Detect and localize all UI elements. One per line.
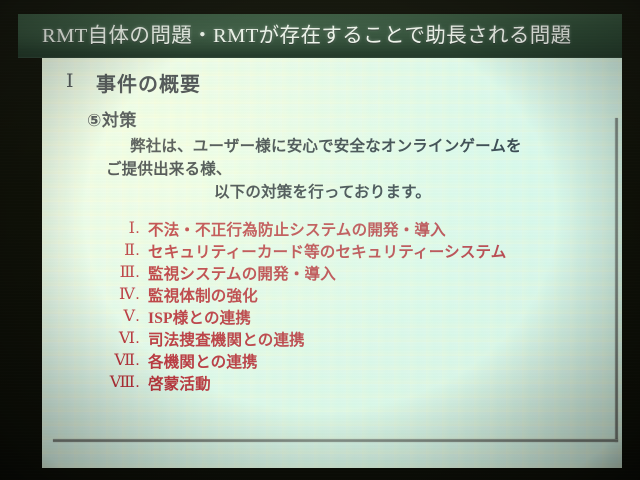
- measure-label: 監視体制の強化: [148, 284, 258, 306]
- decorative-horizontal-rule: [53, 439, 618, 442]
- measure-item: Ⅴ.ISP様との連携: [98, 306, 618, 328]
- measure-number: Ⅷ.: [98, 372, 140, 392]
- measure-item: Ⅷ.啓蒙活動: [98, 372, 618, 394]
- paragraph-line-2: ご提供出来る様、: [106, 157, 232, 179]
- measure-number: Ⅱ.: [98, 240, 140, 260]
- measure-label: 啓蒙活動: [148, 372, 211, 394]
- paragraph-line-1: 弊社は、ユーザー様に安心で安全なオンラインゲームを: [130, 134, 522, 156]
- measure-label: 不法・不正行為防止システムの開発・導入: [148, 218, 446, 240]
- subsection-title: ⑤対策: [87, 106, 137, 131]
- measure-number: Ⅴ.: [98, 306, 140, 326]
- paragraph-line-3: 以下の対策を行っております。: [214, 180, 431, 202]
- measure-item: Ⅶ.各機関との連携: [98, 350, 618, 372]
- slide-content-area: Ⅰ 事件の概要 ⑤対策 弊社は、ユーザー様に安心で安全なオンラインゲームを ご提…: [42, 58, 622, 468]
- projected-slide: RMT自体の問題・RMTが存在することで助長される問題 Ⅰ 事件の概要 ⑤対策 …: [18, 14, 622, 468]
- measure-label: 司法捜査機関との連携: [148, 328, 305, 350]
- section-number: Ⅰ: [66, 70, 74, 93]
- measure-number: Ⅵ.: [98, 328, 140, 348]
- measure-number: Ⅳ.: [98, 284, 140, 304]
- slide-header-band: RMT自体の問題・RMTが存在することで助長される問題: [18, 14, 622, 58]
- presentation-photo: RMT自体の問題・RMTが存在することで助長される問題 Ⅰ 事件の概要 ⑤対策 …: [0, 0, 640, 480]
- measure-item: Ⅰ.不法・不正行為防止システムの開発・導入: [98, 218, 618, 240]
- measure-label: 各機関との連携: [148, 350, 258, 372]
- measure-number: Ⅰ.: [98, 218, 140, 238]
- measure-label: セキュリティーカード等のセキュリティーシステム: [148, 240, 506, 262]
- measure-label: ISP様との連携: [148, 306, 251, 328]
- measure-item: Ⅵ.司法捜査機関との連携: [98, 328, 618, 350]
- slide-header-title: RMT自体の問題・RMTが存在することで助長される問題: [42, 20, 612, 52]
- measure-item: Ⅲ.監視システムの開発・導入: [98, 262, 618, 284]
- measures-list: Ⅰ.不法・不正行為防止システムの開発・導入Ⅱ.セキュリティーカード等のセキュリテ…: [98, 218, 618, 394]
- section-title: 事件の概要: [96, 68, 201, 97]
- measure-item: Ⅳ.監視体制の強化: [98, 284, 618, 306]
- measure-item: Ⅱ.セキュリティーカード等のセキュリティーシステム: [98, 240, 618, 262]
- measure-label: 監視システムの開発・導入: [148, 262, 336, 284]
- measure-number: Ⅲ.: [98, 262, 140, 282]
- measure-number: Ⅶ.: [98, 350, 140, 370]
